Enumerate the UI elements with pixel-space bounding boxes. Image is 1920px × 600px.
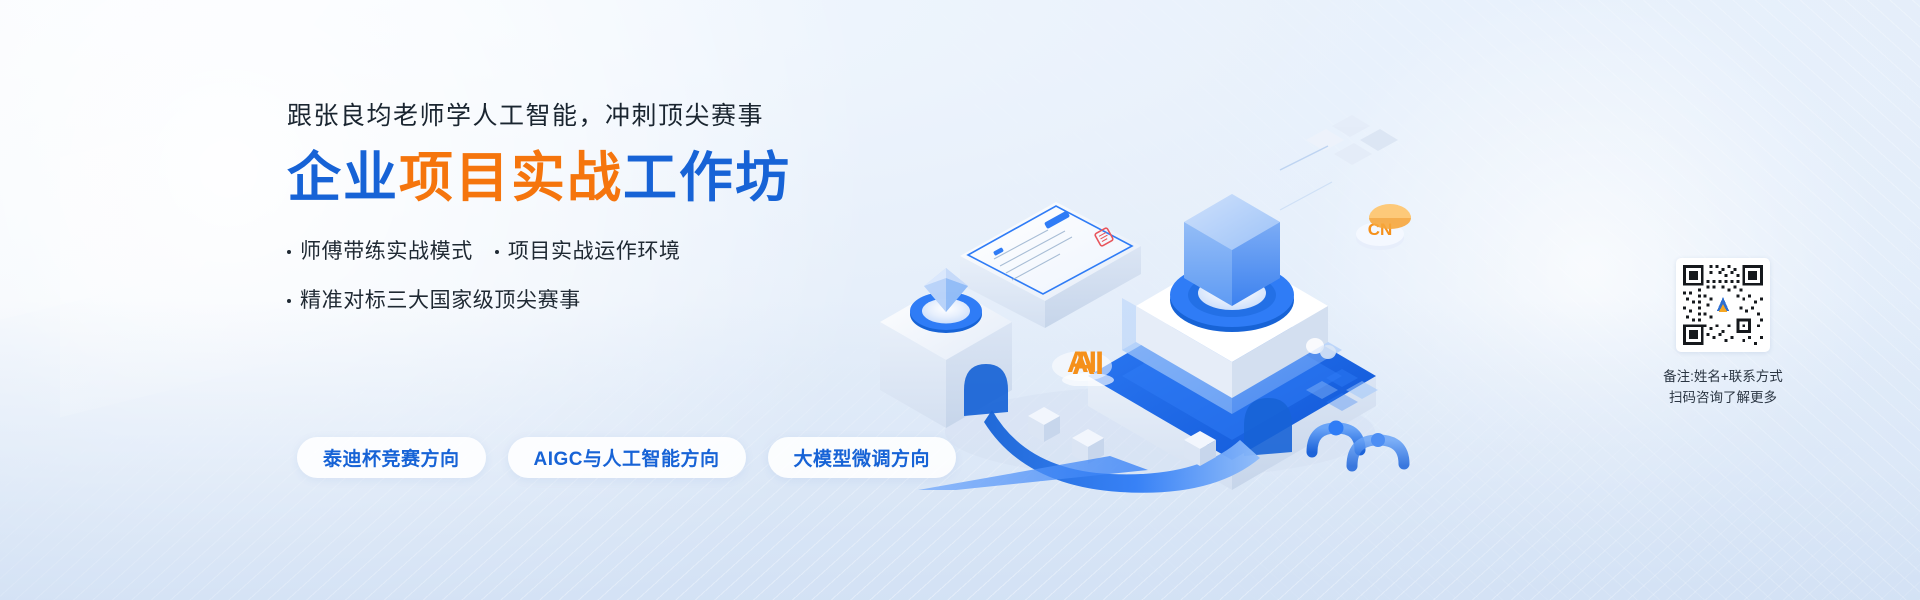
qr-block: 备注:姓名+联系方式 扫码咨询了解更多 — [1648, 258, 1798, 408]
bullet-dot-icon — [495, 250, 499, 254]
promo-banner: 跟张良均老师学人工智能，冲刺顶尖赛事 企业项目实战工作坊 师傅带练实战模式 项目… — [0, 0, 1920, 600]
qr-caption-line-1: 备注:姓名+联系方式 — [1663, 366, 1783, 387]
bullet-dot-icon — [287, 250, 291, 254]
ai-label: AI — [1052, 346, 1112, 381]
orange-capsule-icon — [1369, 204, 1411, 229]
pill-taidi-cup[interactable]: 泰迪杯竞赛方向 — [297, 437, 486, 478]
bullet-1-text-b: 项目实战运作环境 — [508, 241, 681, 262]
bullet-2-text-a: 精准对标三大国家级顶尖赛事 — [300, 290, 581, 311]
qr-caption-line-2: 扫码咨询了解更多 — [1663, 387, 1783, 408]
ai-label-text: AI — [1067, 346, 1097, 379]
qr-caption: 备注:姓名+联系方式 扫码咨询了解更多 — [1663, 366, 1783, 408]
headline-part-2: 项目实战 — [399, 148, 623, 208]
isometric-illustration: CN AI — [860, 60, 1420, 490]
background-facet-a — [0, 0, 330, 342]
connector-line — [1280, 182, 1332, 210]
direction-pill-group: 泰迪杯竞赛方向 AIGC与人工智能方向 大模型微调方向 — [297, 437, 956, 478]
headline-part-1: 企业 — [287, 148, 399, 208]
pill-aigc-ai[interactable]: AIGC与人工智能方向 — [508, 437, 746, 478]
qr-code-image[interactable] — [1676, 258, 1770, 352]
bullet-1-text-a: 师傅带练实战模式 — [300, 241, 473, 262]
arch-opening — [964, 364, 1008, 416]
bullet-dot-icon — [287, 299, 291, 303]
plus-tile-icon — [1306, 115, 1398, 165]
qr-center-logo — [1713, 295, 1734, 316]
connector-line — [1280, 146, 1328, 170]
headline-part-3: 工作坊 — [623, 148, 791, 208]
